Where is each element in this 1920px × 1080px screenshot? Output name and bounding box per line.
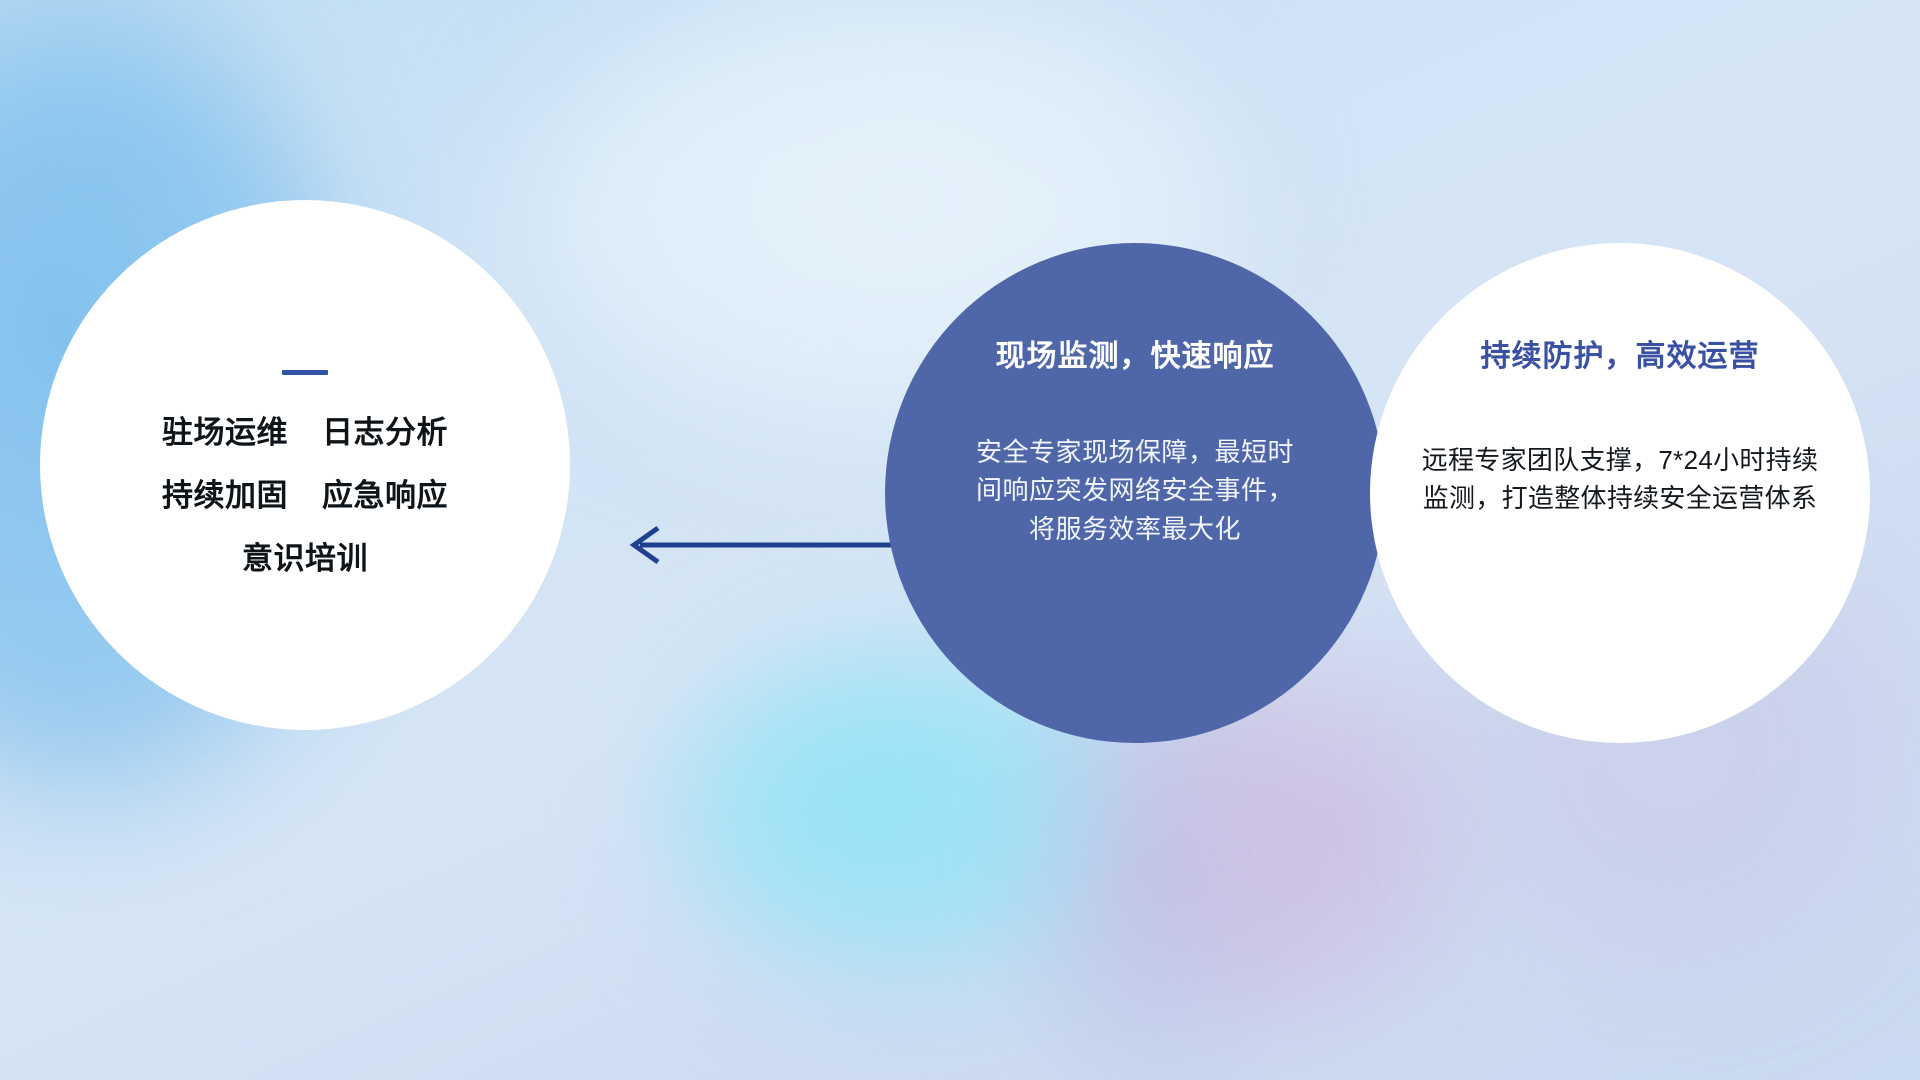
circle-body-text: 安全专家现场保障，最短时间响应突发网络安全事件，将服务效率最大化 xyxy=(970,433,1300,548)
capability-tag: 驻场运维 xyxy=(162,417,288,448)
slide-canvas: 驻场运维 日志分析 持续加固 应急响应 意识培训 现场监测，快速响应 安全专家现… xyxy=(0,0,1920,1080)
capability-circle-middle[interactable]: 现场监测，快速响应 安全专家现场保障，最短时间响应突发网络安全事件，将服务效率最… xyxy=(885,243,1385,743)
capability-tag-row: 持续加固 应急响应 xyxy=(162,480,448,511)
circle-heading: 持续防护，高效运营 xyxy=(1481,331,1760,375)
capability-tag-row: 意识培训 xyxy=(162,543,448,574)
circle-heading: 现场监测，快速响应 xyxy=(996,331,1275,375)
capability-tag: 意识培训 xyxy=(242,543,368,574)
title-divider xyxy=(282,370,328,375)
capability-tag-list: 驻场运维 日志分析 持续加固 应急响应 意识培训 xyxy=(162,417,448,574)
capability-tag: 持续加固 xyxy=(162,480,288,511)
capability-tag-row: 驻场运维 日志分析 xyxy=(162,417,448,448)
capability-tag: 日志分析 xyxy=(322,417,448,448)
capability-circle-left[interactable]: 驻场运维 日志分析 持续加固 应急响应 意识培训 xyxy=(40,200,570,730)
capability-tag: 应急响应 xyxy=(322,480,448,511)
circle-body-text: 远程专家团队支撑，7*24小时持续监测，打造整体持续安全运营体系 xyxy=(1420,441,1820,518)
capability-circle-right[interactable]: 持续防护，高效运营 远程专家团队支撑，7*24小时持续监测，打造整体持续安全运营… xyxy=(1370,243,1870,743)
flow-arrow-icon xyxy=(600,515,910,575)
